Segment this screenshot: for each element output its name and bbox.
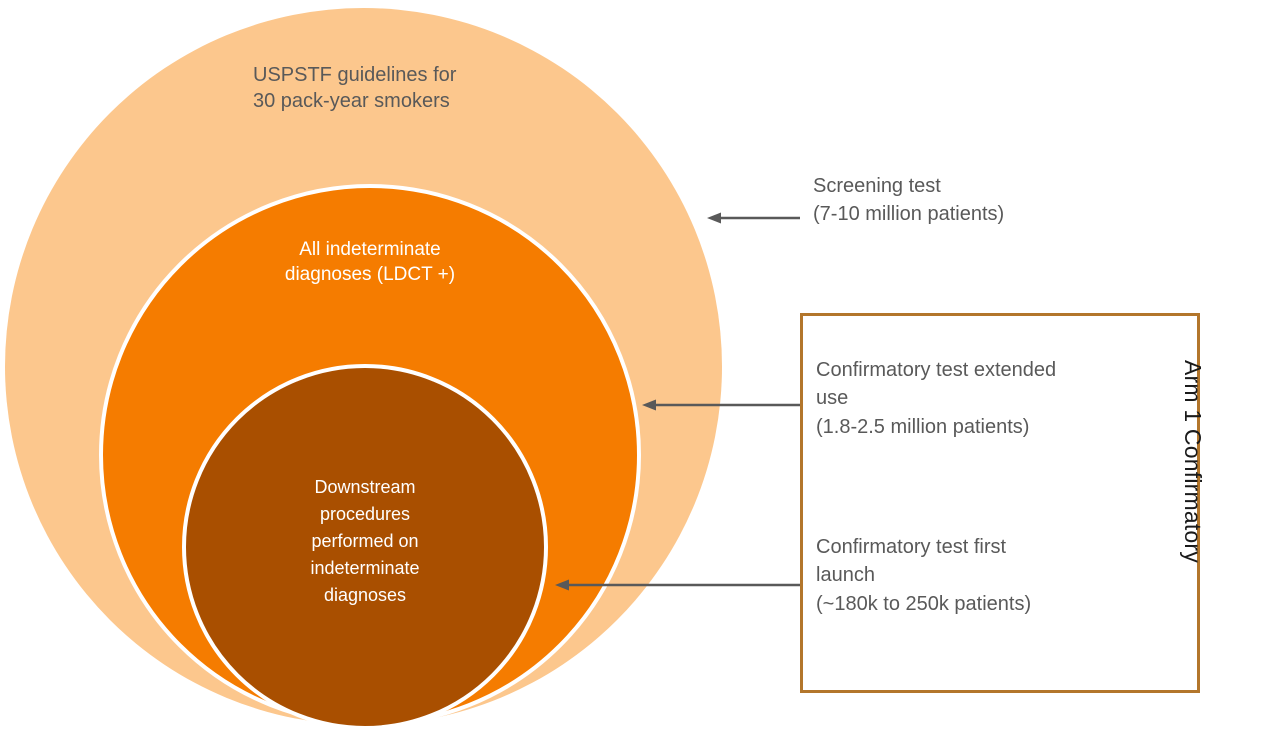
middle-circle-label: All indeterminate diagnoses (LDCT +) bbox=[180, 238, 560, 287]
annotation-confirmatory-first-launch: Confirmatory test first launch (~180k to… bbox=[816, 533, 1176, 618]
annotation-screening-test: Screening test (7-10 million patients) bbox=[813, 172, 1143, 229]
inner-circle-label: Downstream procedures performed on indet… bbox=[225, 474, 505, 609]
annotation-confirmatory-extended-use: Confirmatory test extended use (1.8-2.5 … bbox=[816, 356, 1176, 441]
arrow-left-icon-confirmatory-extended bbox=[640, 395, 800, 415]
arrow-left-icon-screening bbox=[705, 208, 800, 228]
arm-1-confirmatory-label: Arm 1 Confirmatory bbox=[1179, 360, 1206, 620]
diagram-canvas: USPSTF guidelines for 30 pack-year smoke… bbox=[0, 0, 1265, 727]
outer-circle-label: USPSTF guidelines for 30 pack-year smoke… bbox=[175, 62, 555, 114]
arrow-left-icon-confirmatory-first-launch bbox=[553, 575, 800, 595]
